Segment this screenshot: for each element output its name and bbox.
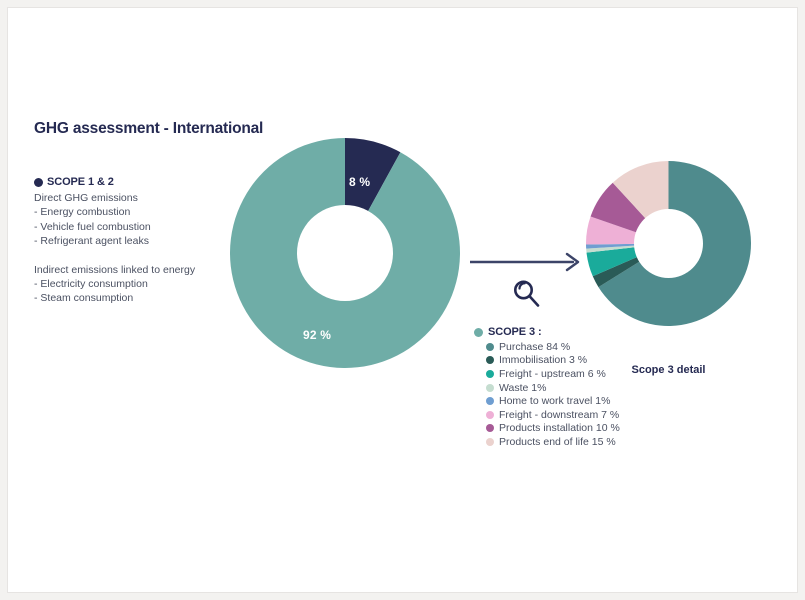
scope3-legend: SCOPE 3 : Purchase 84 %Immobilisation 3 … [474, 326, 649, 449]
scope3-legend-title: SCOPE 3 : [488, 326, 542, 338]
legend-row: Waste 1% [486, 381, 649, 395]
legend-swatch-icon [486, 356, 494, 364]
legend-row: Products installation 10 % [486, 422, 649, 436]
scope3-detail-donut [586, 161, 751, 326]
arrow-right-icon [470, 251, 582, 273]
page-title: GHG assessment - International [34, 120, 263, 138]
legend-row: Home to work travel 1% [486, 394, 649, 408]
legend-label: Products end of life 15 % [499, 436, 616, 448]
legend-row: Freight - downstream 7 % [486, 408, 649, 422]
legend-row: Products end of life 15 % [486, 435, 649, 449]
scope3-legend-bullet-icon [474, 328, 483, 337]
slide-card: GHG assessment - International SCOPE 1 &… [8, 8, 797, 592]
legend-swatch-icon [486, 397, 494, 405]
scope3-detail-caption: Scope 3 detail [586, 364, 751, 376]
scope12-direct-item-1: - Vehicle fuel combustion [34, 220, 249, 234]
scope12-indirect-item-0: - Electricity consumption [34, 277, 249, 291]
legend-swatch-icon [486, 438, 494, 446]
legend-label: Purchase 84 % [499, 341, 570, 353]
magnifier-icon [508, 275, 548, 315]
legend-label: Freight - downstream 7 % [499, 409, 619, 421]
legend-swatch-icon [486, 424, 494, 432]
legend-swatch-icon [486, 411, 494, 419]
scope12-heading-row: SCOPE 1 & 2 [34, 176, 249, 188]
donut-hole [297, 205, 393, 301]
scope3-detail-donut-svg [586, 161, 751, 326]
donut-label-scope3: 92 % [303, 328, 331, 342]
legend-label: Waste 1% [499, 382, 546, 394]
scope3-legend-heading-row: SCOPE 3 : [474, 326, 649, 338]
scope3-legend-items: Purchase 84 %Immobilisation 3 %Freight -… [486, 340, 649, 449]
slide-frame: GHG assessment - International SCOPE 1 &… [0, 0, 805, 600]
legend-swatch-icon [486, 384, 494, 392]
scope12-text-block: SCOPE 1 & 2 Direct GHG emissions - Energ… [34, 176, 249, 306]
legend-swatch-icon [486, 343, 494, 351]
slide-canvas: GHG assessment - International SCOPE 1 &… [8, 8, 797, 592]
legend-swatch-icon [486, 370, 494, 378]
magnifier [508, 275, 548, 315]
ghg-overview-donut: 8 % 92 % [230, 138, 460, 368]
legend-label: Immobilisation 3 % [499, 354, 587, 366]
scope12-direct-heading: Direct GHG emissions [34, 191, 249, 205]
scope12-bullet-icon [34, 178, 43, 187]
legend-row: Purchase 84 % [486, 340, 649, 354]
ghg-overview-donut-svg [230, 138, 460, 368]
scope12-direct-item-2: - Refrigerant agent leaks [34, 234, 249, 248]
scope12-indirect-heading: Indirect emissions linked to energy [34, 263, 249, 277]
scope12-indirect-item-1: - Steam consumption [34, 291, 249, 305]
s3-donut-hole [634, 209, 703, 278]
legend-label: Products installation 10 % [499, 422, 620, 434]
scope12-direct-item-0: - Energy combustion [34, 205, 249, 219]
donut-label-scope12: 8 % [349, 175, 370, 189]
scope12-spacer [34, 249, 249, 263]
connector-arrow [470, 251, 582, 273]
legend-label: Home to work travel 1% [499, 395, 610, 407]
scope12-heading: SCOPE 1 & 2 [47, 176, 114, 188]
